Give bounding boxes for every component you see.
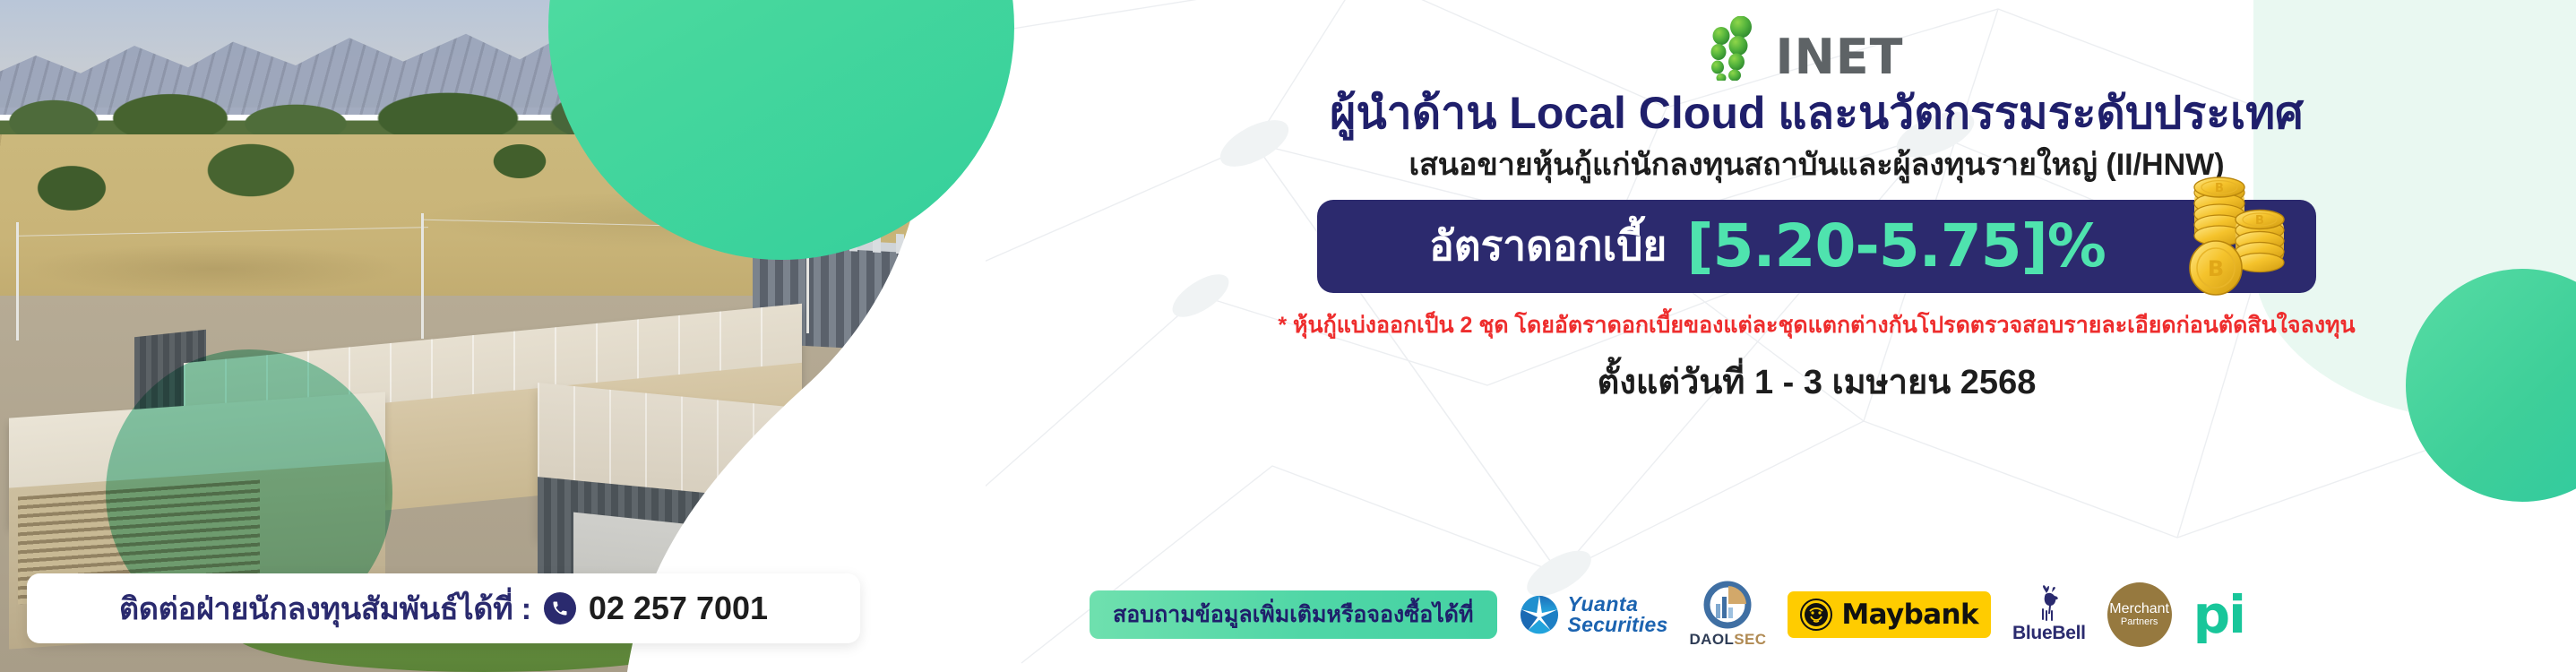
partner-logo-maybank[interactable]: Maybank (1788, 578, 1991, 651)
svg-text:B: B (2208, 256, 2224, 281)
inet-logo: INET (1683, 13, 1951, 81)
merchant-line2: Partners (2121, 617, 2158, 628)
phone-icon (544, 592, 576, 625)
partner-logo-pi[interactable]: pi (2193, 578, 2244, 651)
datacenter-photo (0, 0, 1057, 672)
cta-inquire-button[interactable]: สอบถามข้อมูลเพิ่มเติมหรือจองซื้อได้ที่ (1090, 590, 1497, 639)
partner-logo-yuanta[interactable]: Yuanta Securities (1519, 578, 1668, 651)
bluebell-wordmark: BlueBell (2012, 623, 2086, 644)
partner-row: สอบถามข้อมูลเพิ่มเติมหรือจองซื้อได้ที่ (1057, 573, 2576, 656)
daol-circle-chart-icon (1703, 581, 1752, 629)
partner-logo-daol[interactable]: DAOLSEC (1689, 578, 1766, 651)
content-column: INET ผู้นำด้าน Local Cloud และนวัตกรรมระ… (1057, 0, 2576, 672)
date-range-text: ตั้งแต่วันที่ 1 - 3 เมษายน 2568 (1598, 354, 2037, 409)
daol-line2: SEC (1734, 631, 1766, 648)
merchant-partners-circle-icon: Merchant Partners (2107, 582, 2172, 647)
banner-stage: ติดต่อฝ่ายนักลงทุนสัมพันธ์ได้ที่ : 02 25… (0, 0, 2576, 672)
daol-line1: DAOL (1689, 631, 1734, 648)
yuanta-line2: Securities (1568, 615, 1668, 635)
svg-text:B: B (2255, 214, 2264, 228)
pi-wordmark-icon: pi (2193, 589, 2244, 641)
partner-logo-merchant-partners[interactable]: Merchant Partners (2107, 578, 2172, 651)
svg-text:B: B (2215, 182, 2224, 195)
yuanta-star-icon (1519, 594, 1560, 635)
maybank-tiger-icon (1800, 599, 1832, 631)
maybank-wordmark: Maybank (1841, 599, 1978, 631)
yuanta-line1: Yuanta (1568, 594, 1668, 615)
disclaimer-text: * หุ้นกู้แบ่งออกเป็น 2 ชุด โดยอัตราดอกเบ… (1278, 307, 2355, 343)
headline: ผู้นำด้าน Local Cloud และนวัตกรรมระดับปร… (1330, 88, 2304, 138)
bluebell-deer-icon (2031, 585, 2067, 623)
inet-logo-text: INET (1776, 29, 1904, 85)
merchant-line1: Merchant (2109, 602, 2169, 617)
interest-rate-box: อัตราดอกเบี้ย [5.20-5.75]% (1317, 200, 2316, 293)
interest-rate-value: [5.20-5.75]% (1686, 211, 2106, 280)
gold-coins-stack-icon: B B B (2178, 175, 2313, 309)
inet-green-dots-logo-icon (1699, 16, 1776, 81)
contact-card: ติดต่อฝ่ายนักลงทุนสัมพันธ์ได้ที่ : 02 25… (27, 573, 860, 643)
interest-rate-label: อัตราดอกเบี้ย (1429, 213, 1667, 279)
contact-label: ติดต่อฝ่ายนักลงทุนสัมพันธ์ได้ที่ : (119, 584, 531, 633)
subheadline: เสนอขายหุ้นกู้แก่นักลงทุนสถาบันและผู้ลงท… (1409, 147, 2224, 184)
partner-logo-bluebell[interactable]: BlueBell (2012, 578, 2086, 651)
contact-phone-number[interactable]: 02 257 7001 (589, 590, 768, 627)
